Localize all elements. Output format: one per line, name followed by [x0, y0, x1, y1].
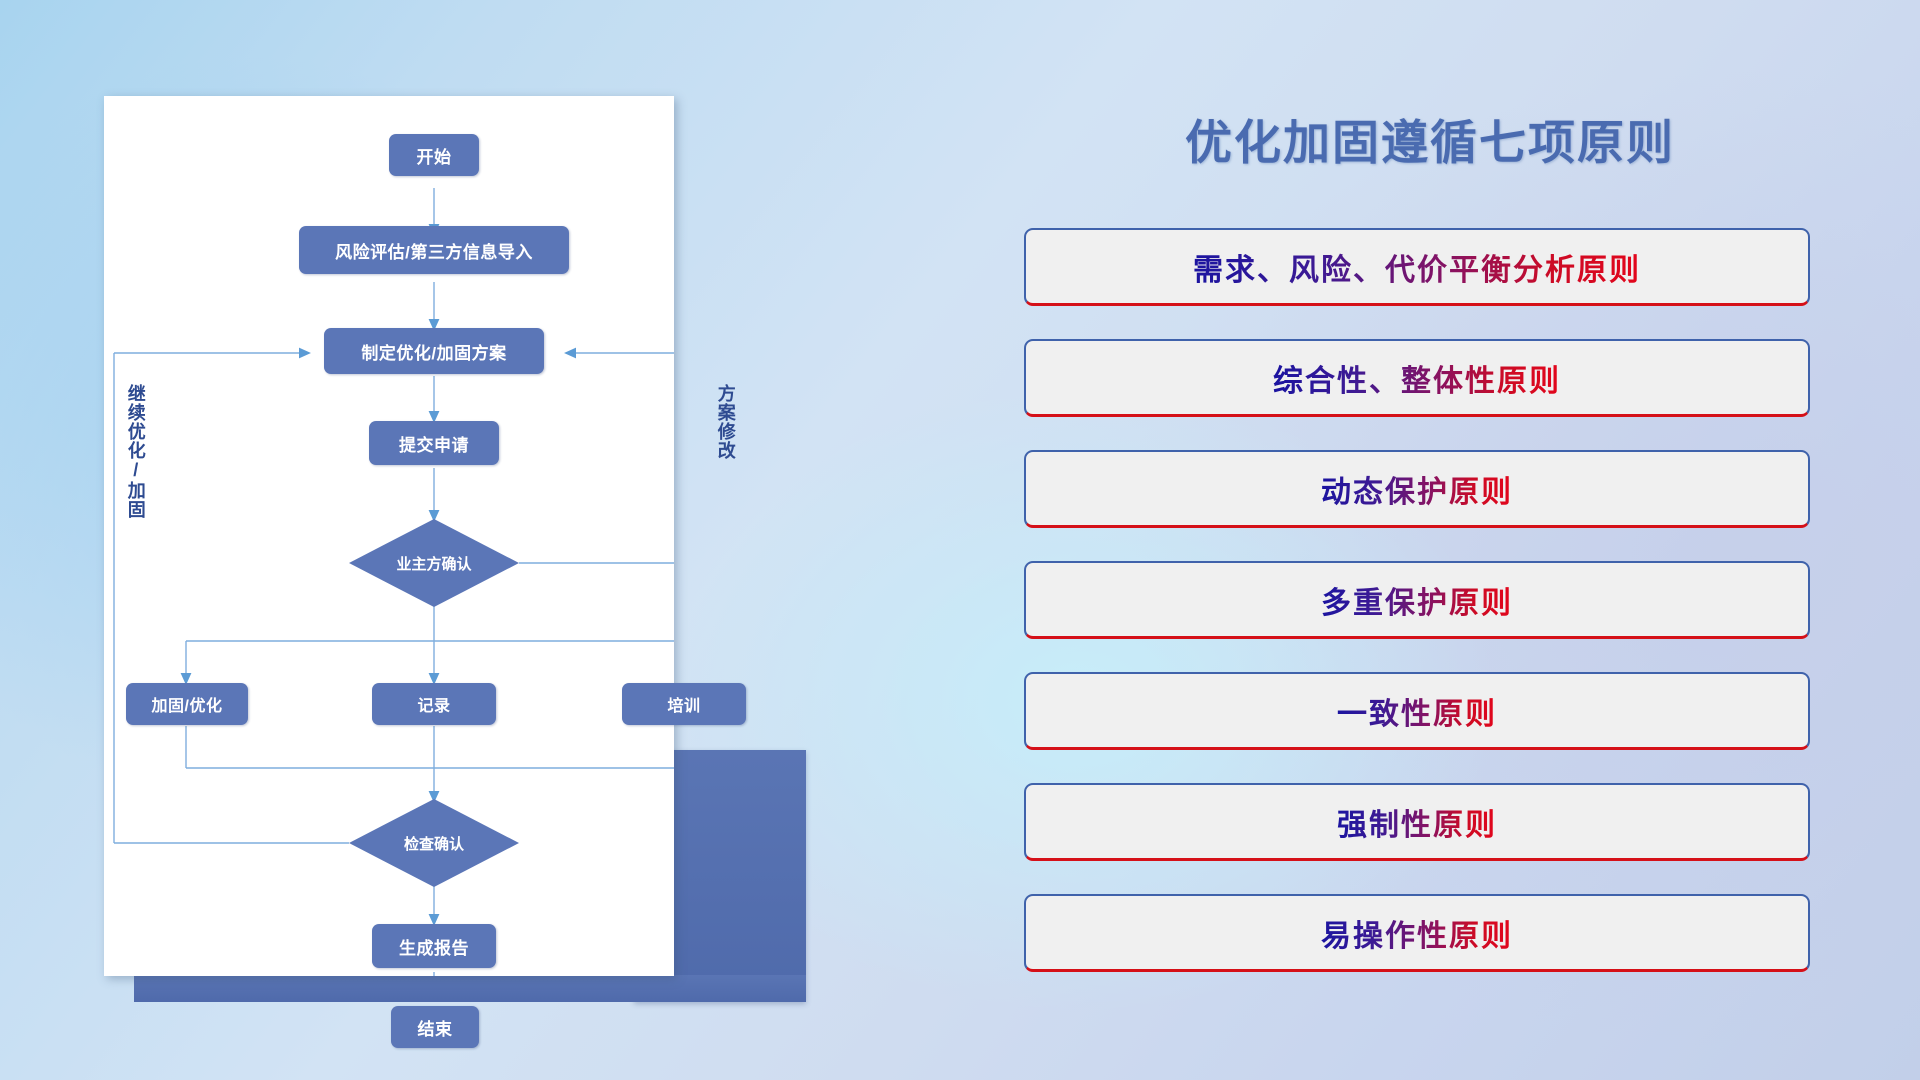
- flow-node-risk-assessment-label: 风险评估/第三方信息导入: [335, 238, 533, 263]
- flow-node-risk-assessment[interactable]: 风险评估/第三方信息导入: [299, 226, 569, 274]
- flow-node-end[interactable]: 结束: [391, 1006, 479, 1048]
- principle-card-5-label: 一致性原则: [1337, 689, 1497, 733]
- principle-card-7[interactable]: 易操作性原则: [1024, 894, 1810, 972]
- principle-card-2[interactable]: 综合性、整体性原则: [1024, 339, 1810, 417]
- principle-card-5[interactable]: 一致性原则: [1024, 672, 1810, 750]
- flow-node-submit-label: 提交申请: [399, 431, 469, 456]
- principle-card-2-label: 综合性、整体性原则: [1273, 356, 1561, 400]
- flow-node-reinforce-label: 加固/优化: [152, 692, 223, 716]
- flow-node-submit[interactable]: 提交申请: [369, 421, 499, 465]
- flow-node-end-label: 结束: [418, 1015, 453, 1040]
- flow-node-record-label: 记录: [417, 692, 450, 716]
- principle-card-6[interactable]: 强制性原则: [1024, 783, 1810, 861]
- principle-card-4-label: 多重保护原则: [1321, 578, 1513, 622]
- flow-node-training[interactable]: 培训: [622, 683, 746, 725]
- principle-card-3[interactable]: 动态保护原则: [1024, 450, 1810, 528]
- principles-pane: 优化加固遵循七项原则 需求、风险、代价平衡分析原则 综合性、整体性原则 动态保护…: [1020, 0, 1900, 1080]
- flow-decision-check-confirm-label: 检查确认: [404, 833, 464, 854]
- flow-node-start-label: 开始: [417, 143, 452, 168]
- principle-card-4[interactable]: 多重保护原则: [1024, 561, 1810, 639]
- flow-node-report[interactable]: 生成报告: [372, 924, 496, 968]
- flow-decision-check-confirm[interactable]: 检查确认: [349, 799, 519, 887]
- principle-card-6-label: 强制性原则: [1337, 800, 1497, 844]
- flow-edge-label-continue: 继续优化/加固: [126, 384, 145, 544]
- flow-node-plan-label: 制定优化/加固方案: [361, 339, 506, 364]
- flowchart-panel: 开始 风险评估/第三方信息导入 制定优化/加固方案 提交申请 业主方确认 加固/…: [104, 96, 674, 976]
- flow-decision-owner-confirm-label: 业主方确认: [396, 553, 471, 574]
- principles-list: 需求、风险、代价平衡分析原则 综合性、整体性原则 动态保护原则 多重保护原则 一…: [1024, 228, 1810, 1005]
- principle-card-7-label: 易操作性原则: [1321, 911, 1513, 955]
- page-title: 优化加固遵循七项原则: [1020, 104, 1840, 173]
- flow-node-training-label: 培训: [667, 692, 700, 716]
- principle-card-1[interactable]: 需求、风险、代价平衡分析原则: [1024, 228, 1810, 306]
- flow-node-report-label: 生成报告: [399, 934, 469, 959]
- accent-block-horizontal: [134, 975, 806, 1002]
- principle-card-1-label: 需求、风险、代价平衡分析原则: [1193, 245, 1641, 289]
- principle-card-3-label: 动态保护原则: [1321, 467, 1513, 511]
- flow-decision-owner-confirm[interactable]: 业主方确认: [349, 519, 519, 607]
- flow-node-reinforce[interactable]: 加固/优化: [126, 683, 248, 725]
- flow-node-plan[interactable]: 制定优化/加固方案: [324, 328, 544, 374]
- flow-node-start[interactable]: 开始: [389, 134, 479, 176]
- flow-node-record[interactable]: 记录: [372, 683, 496, 725]
- flow-edge-label-revise: 方案修改: [716, 384, 735, 504]
- slide-canvas: 开始 风险评估/第三方信息导入 制定优化/加固方案 提交申请 业主方确认 加固/…: [0, 0, 1920, 1080]
